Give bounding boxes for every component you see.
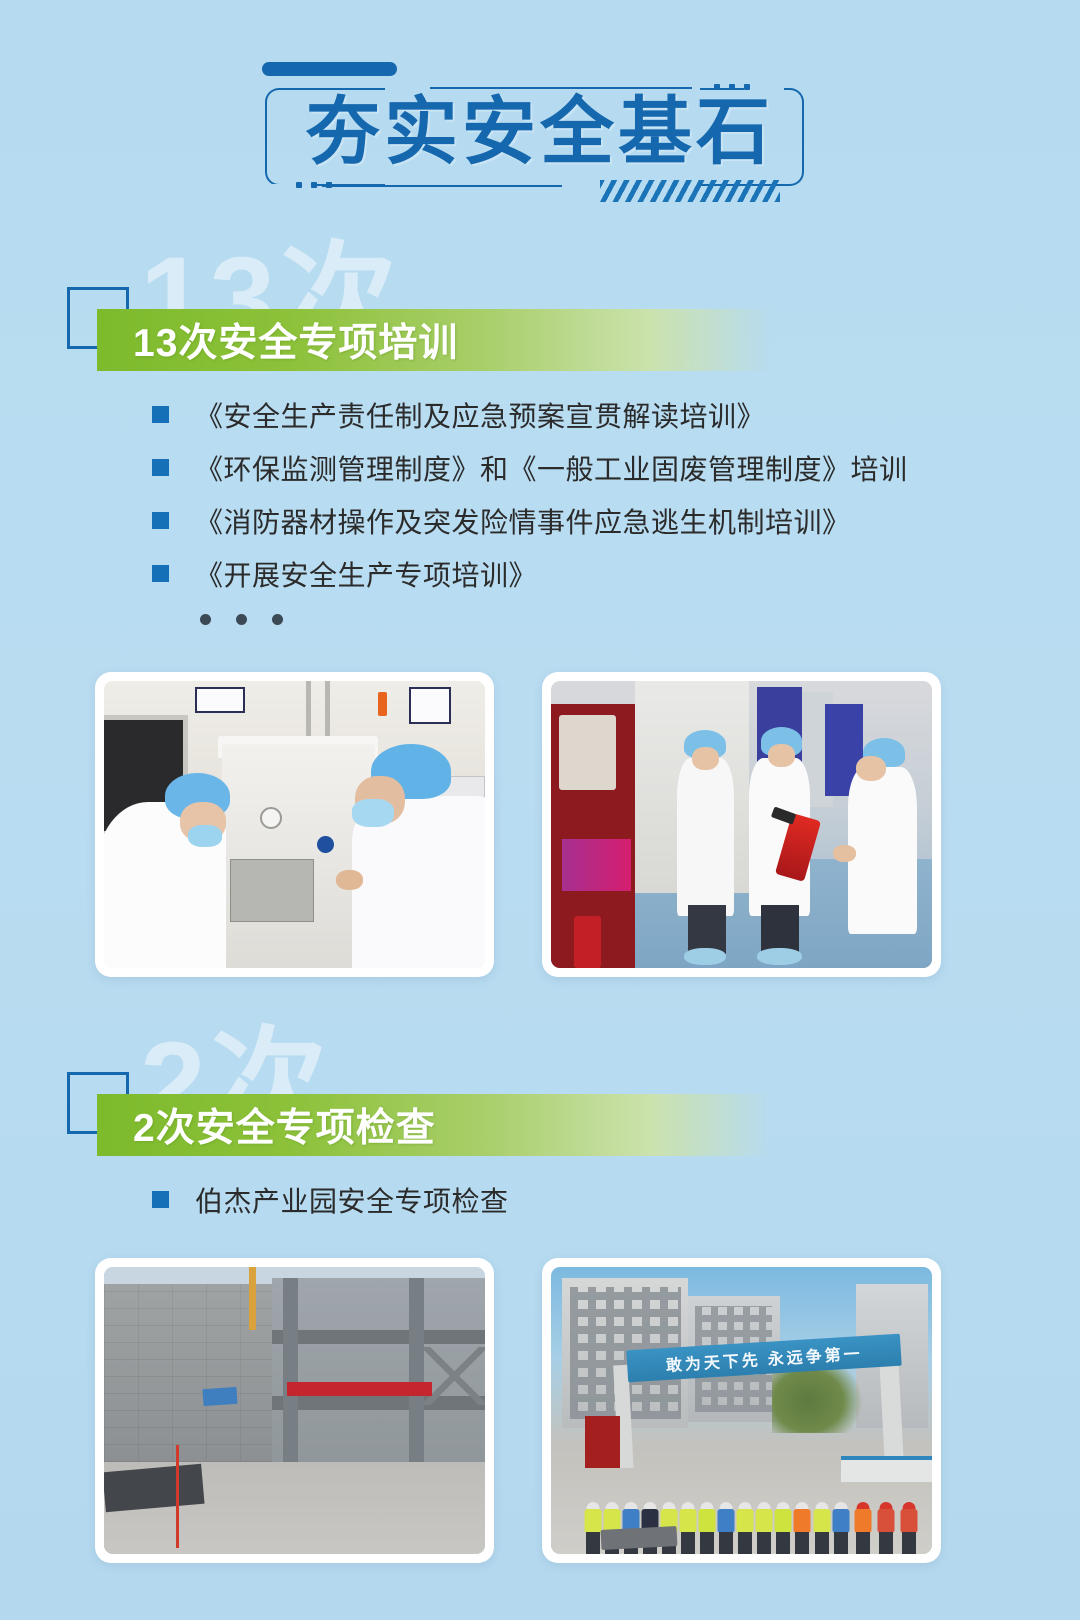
title-hatch-stripes	[600, 180, 780, 202]
more-items-ellipsis-icon	[0, 614, 1080, 625]
photo-card	[542, 672, 941, 977]
title-accent-bar	[262, 62, 397, 76]
section-heading-bar: 2次安全专项检查	[97, 1094, 772, 1156]
bullet-square-icon	[152, 565, 169, 582]
bullet-list: 《安全生产责任制及应急预案宣贯解读培训》 《环保监测管理制度》和《一般工业固废管…	[0, 388, 1080, 625]
bullet-label: 《消防器材操作及突发险情事件应急逃生机制培训》	[195, 501, 851, 541]
title-dots-bottom-icon	[296, 182, 332, 188]
bullet-label: 《环保监测管理制度》和《一般工业固废管理制度》培训	[195, 448, 908, 488]
bullet-square-icon	[152, 406, 169, 423]
page-title: 夯实安全基石	[0, 84, 1080, 180]
photo-construction-site-inspection	[104, 1267, 485, 1554]
bullet-square-icon	[152, 459, 169, 476]
bullet-list: 伯杰产业园安全专项检查	[0, 1173, 1080, 1226]
bullet-square-icon	[152, 1191, 169, 1208]
section-heading-text: 2次安全专项检查	[97, 1097, 436, 1153]
section-heading-bar: 13次安全专项培训	[97, 309, 772, 371]
list-item: 《环保监测管理制度》和《一般工业固废管理制度》培训	[0, 441, 1080, 494]
photo-fire-extinguisher-training	[551, 681, 932, 968]
bullet-label: 《安全生产责任制及应急预案宣贯解读培训》	[195, 395, 765, 435]
bullet-label: 《开展安全生产专项培训》	[195, 554, 537, 594]
poster-root: 夯实安全基石 13次 13次安全专项培训 《安全生产责任制及应急预案宣贯解读培训…	[0, 0, 1080, 1620]
title-line-bottom	[322, 185, 562, 187]
section-heading-text: 13次安全专项培训	[97, 312, 458, 368]
bullet-label: 伯杰产业园安全专项检查	[195, 1180, 509, 1220]
photo-card	[95, 1258, 494, 1563]
title-block: 夯实安全基石	[0, 0, 1080, 230]
list-item: 伯杰产业园安全专项检查	[0, 1173, 1080, 1226]
photo-card	[95, 672, 494, 977]
photo-lab-equipment-inspection	[104, 681, 485, 968]
list-item: 《开展安全生产专项培训》	[0, 547, 1080, 600]
photo-group-safety-inspection: 敢为天下先 永远争第一	[551, 1267, 932, 1554]
list-item: 《消防器材操作及突发险情事件应急逃生机制培训》	[0, 494, 1080, 547]
list-item: 《安全生产责任制及应急预案宣贯解读培训》	[0, 388, 1080, 441]
photo-row-training	[0, 672, 1080, 977]
bullet-square-icon	[152, 512, 169, 529]
photo-card: 敢为天下先 永远争第一	[542, 1258, 941, 1563]
photo-row-inspection: 敢为天下先 永远争第一	[0, 1258, 1080, 1563]
